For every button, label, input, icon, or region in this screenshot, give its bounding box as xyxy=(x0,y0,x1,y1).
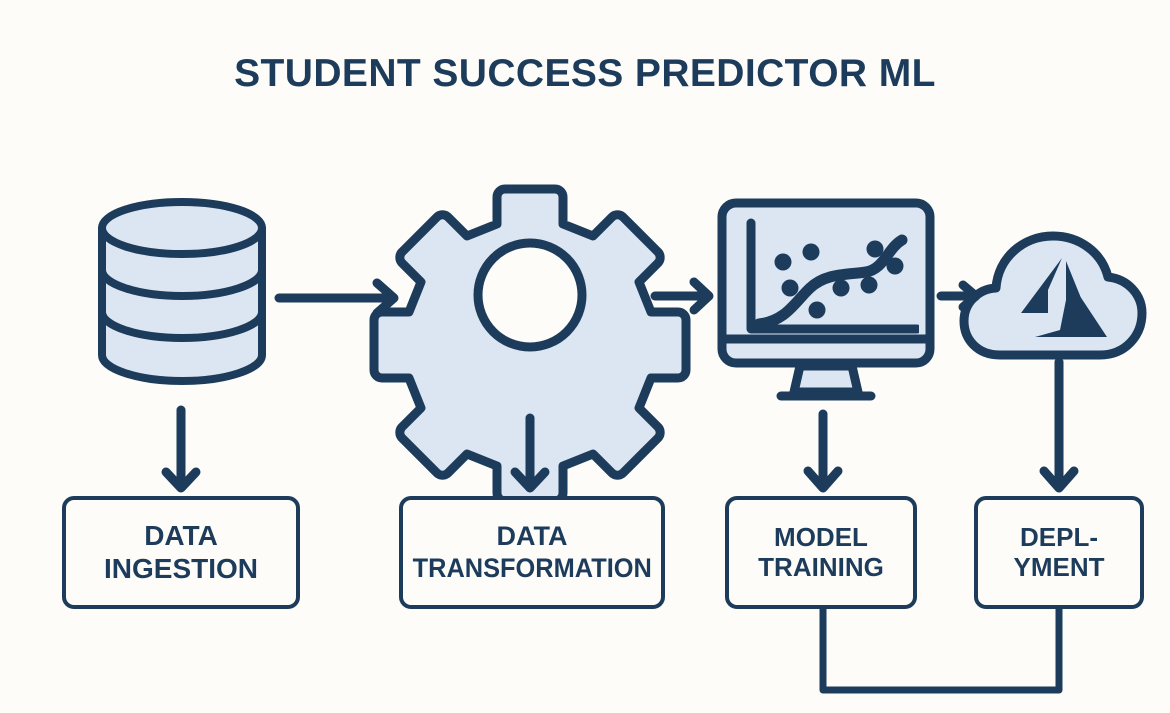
stage-label-line1: DATA xyxy=(144,520,218,552)
stage-box-model-training[interactable]: MODEL TRAINING xyxy=(725,496,917,609)
arrow-database-down xyxy=(166,410,196,488)
database-icon xyxy=(102,202,262,381)
azure-cloud-icon xyxy=(964,236,1142,355)
stage-label-line1: MODEL xyxy=(774,523,868,553)
connector-training-to-deployment xyxy=(823,609,1059,690)
stage-label-line2: TRANSFORMATION xyxy=(412,553,651,584)
stage-label-line2: TRAINING xyxy=(758,553,884,583)
diagram-canvas: STUDENT SUCCESS PREDICTOR ML xyxy=(0,0,1170,713)
stage-label-line1: DEPL- xyxy=(1020,523,1098,553)
arrow-gear-to-monitor xyxy=(655,282,709,310)
arrow-monitor-to-cloud xyxy=(941,285,976,307)
arrow-monitor-down xyxy=(808,414,838,488)
stage-box-data-transformation[interactable]: DATA TRANSFORMATION xyxy=(399,496,665,609)
arrow-cloud-down xyxy=(1044,362,1074,488)
stage-label-line1: DATA xyxy=(497,521,568,552)
arrow-database-to-gear xyxy=(279,283,394,313)
stage-box-deployment[interactable]: DEPL- YMENT xyxy=(974,496,1144,609)
stage-label-line2: INGESTION xyxy=(104,553,258,585)
stage-label-line2: YMENT xyxy=(1014,553,1105,583)
stage-box-data-ingestion[interactable]: DATA INGESTION xyxy=(62,496,300,609)
monitor-chart-icon xyxy=(722,203,930,396)
